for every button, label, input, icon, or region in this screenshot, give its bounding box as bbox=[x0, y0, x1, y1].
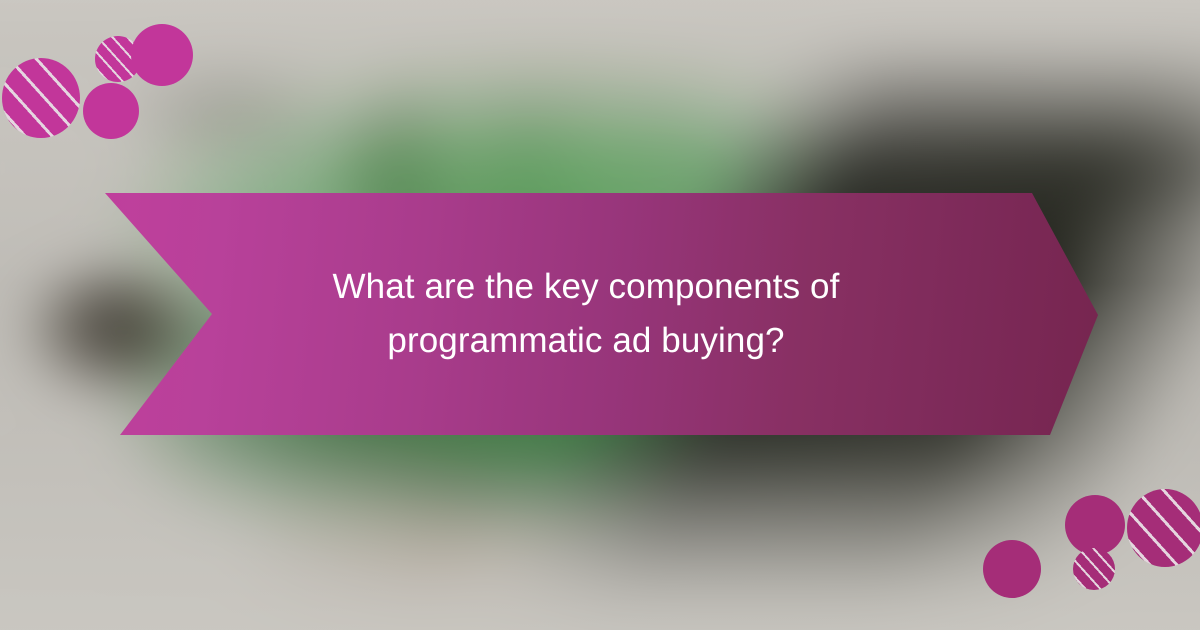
decorative-circle-plain-medium bbox=[1065, 495, 1125, 555]
decorative-circle-striped-large bbox=[2, 58, 80, 138]
decorative-circle-striped-small bbox=[1073, 548, 1115, 590]
decorative-circle-plain-small bbox=[983, 540, 1041, 598]
decorative-circle-plain-small bbox=[83, 83, 139, 139]
canvas-stage: What are the key components of programma… bbox=[0, 0, 1200, 630]
question-text: What are the key components of programma… bbox=[286, 260, 886, 369]
decorative-circle-plain-medium bbox=[131, 24, 193, 86]
question-ribbon-banner: What are the key components of programma… bbox=[100, 190, 1100, 440]
decorative-circle-striped-large bbox=[1127, 489, 1200, 567]
